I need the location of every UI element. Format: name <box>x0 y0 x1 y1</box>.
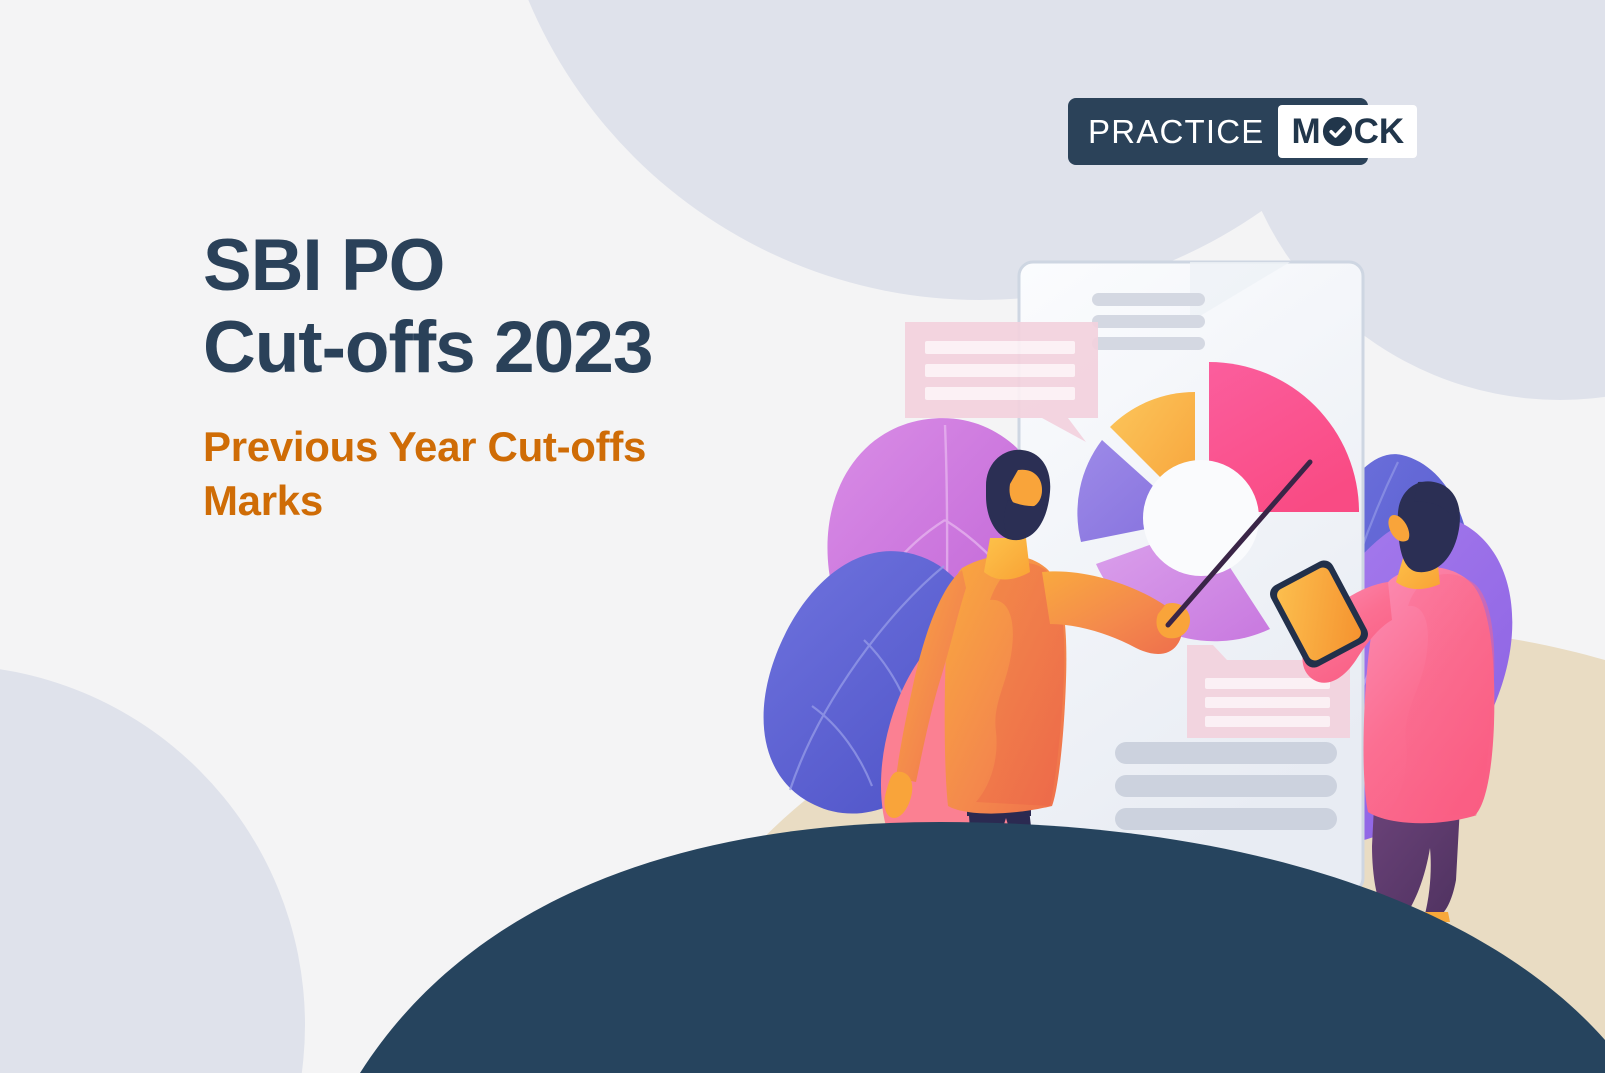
logo-word-practice: PRACTICE <box>1088 115 1264 148</box>
headline-block: SBI PO Cut-offs 2023 Previous Year Cut-o… <box>203 225 863 527</box>
logo-mock-plate: M CK <box>1278 105 1417 158</box>
check-circle-icon <box>1321 115 1354 148</box>
doc-text-bars-top <box>1092 293 1205 350</box>
doc-text-bars-bottom <box>1115 742 1337 830</box>
brand-logo[interactable]: PRACTICE M CK <box>1068 98 1368 165</box>
page-subtitle: Previous Year Cut-offs Marks <box>203 420 863 528</box>
donut-hole <box>1143 460 1259 576</box>
page-title: SBI PO Cut-offs 2023 <box>203 225 863 390</box>
logo-mock-suffix: CK <box>1354 114 1405 149</box>
logo-mock-prefix: M <box>1291 114 1320 149</box>
poster-canvas: SBI PO Cut-offs 2023 Previous Year Cut-o… <box>0 0 1605 1073</box>
logo-word-mock: M CK <box>1291 114 1404 149</box>
